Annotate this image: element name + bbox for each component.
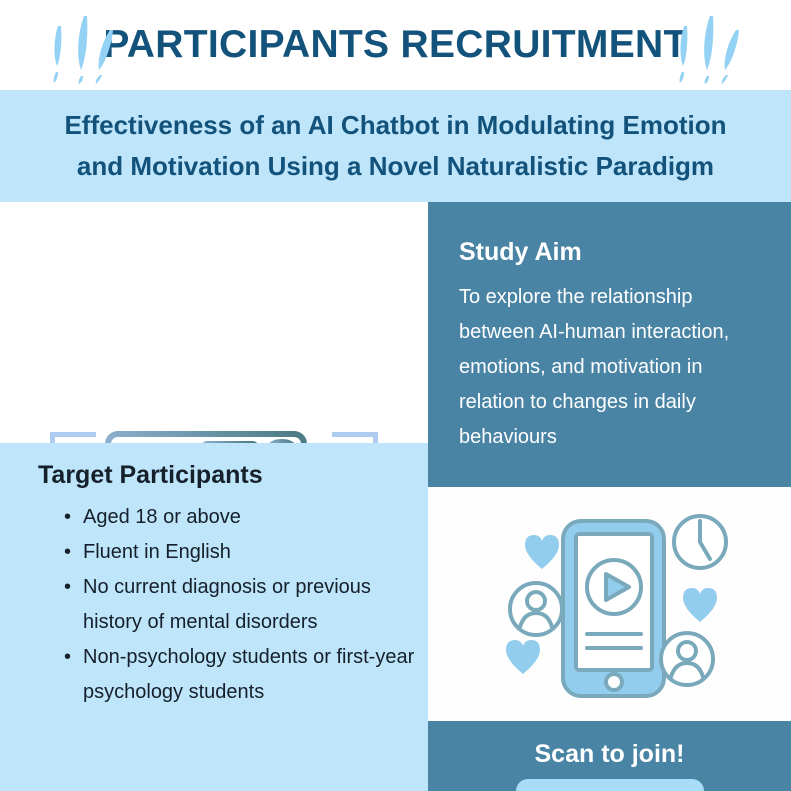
qr-code-card-icon[interactable] [516,779,704,791]
target-participants-list: Aged 18 or above Fluent in English No cu… [38,500,418,710]
sparkle-icon [666,8,762,84]
page-title: PARTICIPANTS RECRUITMENT [103,23,687,67]
list-item: No current diagnosis or previous history… [64,570,418,640]
list-item: Fluent in English [64,535,418,570]
subtitle-band: Effectiveness of an AI Chatbot in Modula… [0,90,791,202]
target-participants-panel: Target Participants Aged 18 or above Flu… [0,443,428,791]
scan-panel: Scan to join! [428,721,791,791]
sparkle-icon [40,8,136,84]
phone-engagement-icon [428,487,791,721]
scan-title: Scan to join! [428,740,791,769]
poster-root: PARTICIPANTS RECRUITMENT Effectiveness o… [0,0,791,791]
monitor-illustration-panel [0,202,428,443]
phone-illustration-panel [428,487,791,721]
header: PARTICIPANTS RECRUITMENT [0,0,791,90]
study-aim-panel: Study Aim To explore the relationship be… [428,202,791,487]
list-item: Aged 18 or above [64,500,418,535]
subtitle-line-2: and Motivation Using a Novel Naturalisti… [77,146,714,187]
list-item: Non-psychology students or first-year ps… [64,640,418,710]
subtitle-line-1: Effectiveness of an AI Chatbot in Modula… [64,105,726,146]
study-aim-heading: Study Aim [459,238,765,267]
target-participants-heading: Target Participants [38,461,418,490]
study-aim-body: To explore the relationship between AI-h… [459,280,765,455]
